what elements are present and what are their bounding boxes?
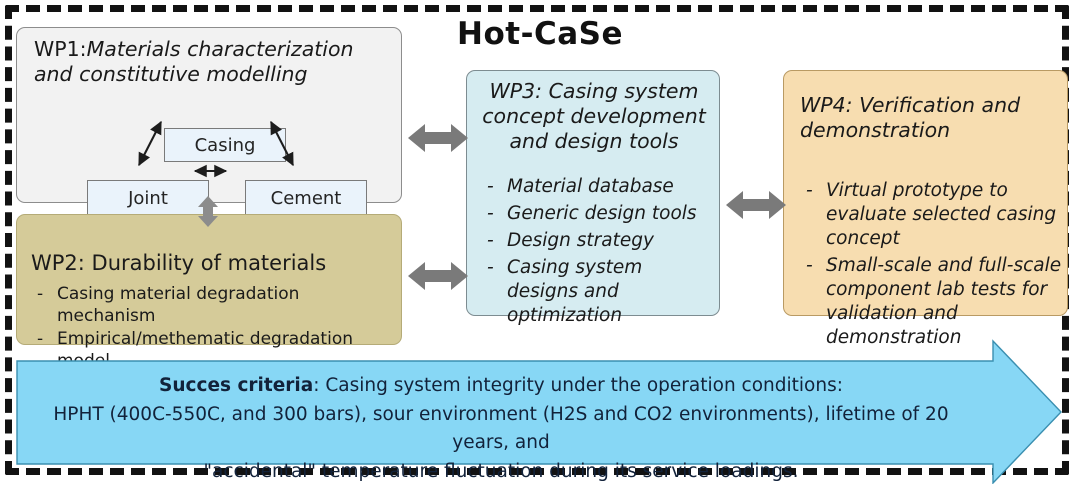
banner-heading: Succes criteria bbox=[159, 375, 313, 396]
diagram-canvas: Hot-CaSe WP1:Materials characterization … bbox=[0, 0, 1080, 484]
list-item: Generic design tools bbox=[481, 202, 719, 226]
banner-line-1: Succes criteria: Casing system integrity… bbox=[36, 372, 966, 401]
inner-box-joint[interactable]: Joint bbox=[87, 180, 209, 217]
banner-line-1-rest: : Casing system integrity under the oper… bbox=[313, 375, 843, 396]
wp4-bullet-list: Virtual prototype to evaluate selected c… bbox=[800, 179, 1062, 353]
wp2-box[interactable]: WP2: Durability of materials Casing mate… bbox=[16, 214, 402, 345]
wp3-title: WP3: Casing system concept development a… bbox=[475, 79, 713, 154]
list-item: Casing system designs and optimization bbox=[481, 256, 719, 328]
wp4-title: WP4: Verification and demonstration bbox=[800, 93, 1056, 143]
wp4-box[interactable]: WP4: Verification and demonstration Virt… bbox=[783, 70, 1068, 316]
wp3-bullet-list: Material database Generic design tools D… bbox=[481, 175, 719, 331]
list-item: Small-scale and full-scale component lab… bbox=[800, 254, 1062, 350]
banner-line-3: "accidental" temperature fluctuation dur… bbox=[36, 458, 966, 484]
list-item: Casing material degradation mechanism bbox=[31, 283, 393, 327]
wp2-title: WP2: Durability of materials bbox=[31, 251, 391, 275]
inner-box-cement[interactable]: Cement bbox=[245, 180, 367, 217]
wp1-box[interactable]: WP1:Materials characterization and const… bbox=[16, 27, 402, 203]
banner-line-2: HPHT (400C-550C, and 300 bars), sour env… bbox=[36, 401, 966, 458]
list-item: Design strategy bbox=[481, 229, 719, 253]
success-criteria-banner: Succes criteria: Casing system integrity… bbox=[16, 360, 1062, 465]
wp1-title: WP1:Materials characterization and const… bbox=[34, 37, 390, 87]
list-item: Virtual prototype to evaluate selected c… bbox=[800, 179, 1062, 251]
inner-box-casing[interactable]: Casing bbox=[164, 128, 286, 162]
success-criteria-text: Succes criteria: Casing system integrity… bbox=[36, 372, 966, 484]
wp3-box[interactable]: WP3: Casing system concept development a… bbox=[466, 70, 720, 316]
list-item: Material database bbox=[481, 175, 719, 199]
wp1-title-prefix: WP1: bbox=[34, 37, 87, 61]
